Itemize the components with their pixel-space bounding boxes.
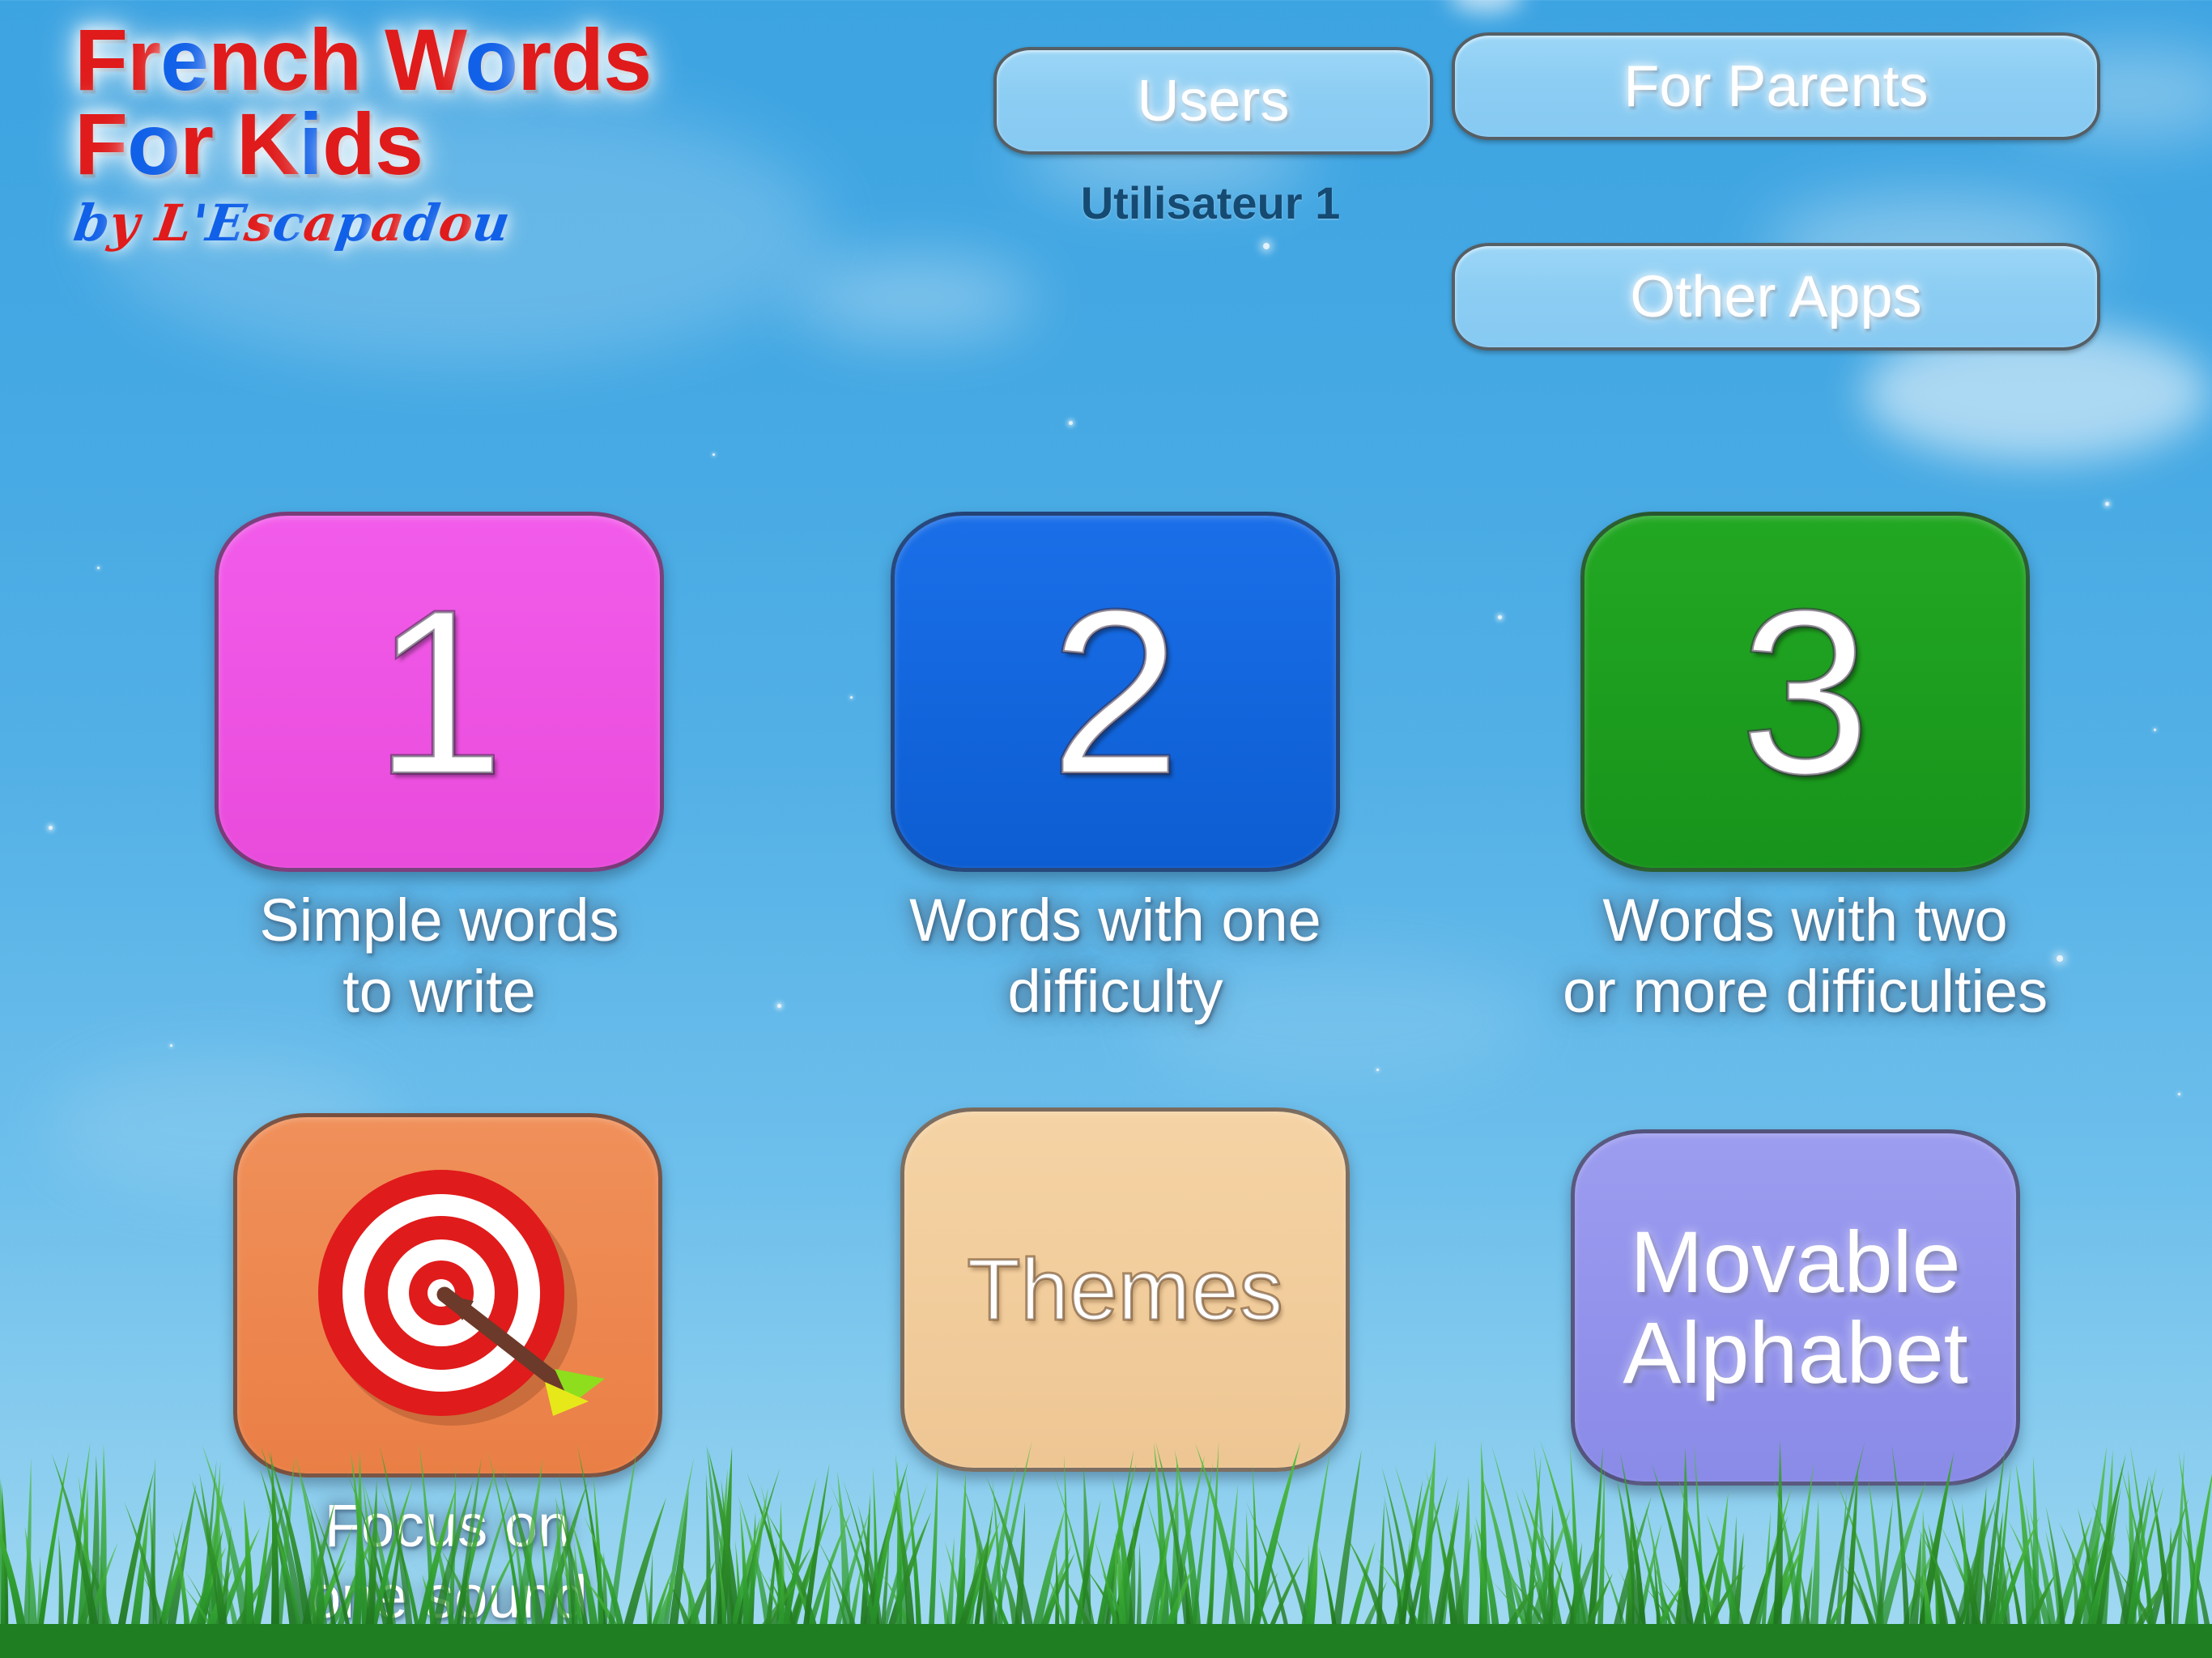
tile-level-2-surface[interactable]: 2 (891, 512, 1340, 872)
page-title-line1: French Words (74, 18, 651, 102)
app-title-block: French Words For Kids by L'Escapadou (74, 18, 651, 249)
tile-level-1[interactable]: 1 Simple words to write (215, 512, 664, 1027)
tile-themes[interactable]: Themes (900, 1107, 1350, 1472)
tile-themes-surface[interactable]: Themes (900, 1107, 1350, 1472)
tile-focus-one-sound-caption: Focus on one sound (308, 1490, 588, 1633)
tile-level-3[interactable]: 3 Words with two or more difficulties (1563, 512, 2048, 1027)
tile-movable-alphabet-label: Movable Alphabet (1623, 1217, 1967, 1398)
current-user-label: Utilisateur 1 (1008, 176, 1413, 229)
tile-level-1-surface[interactable]: 1 (215, 512, 664, 872)
tile-level-1-caption: Simple words to write (259, 885, 619, 1027)
tile-movable-alphabet-surface[interactable]: Movable Alphabet (1571, 1129, 2020, 1486)
tile-level-2-caption: Words with one difficulty (909, 885, 1321, 1027)
for-parents-button[interactable]: For Parents (1452, 32, 2100, 140)
users-button[interactable]: Users (993, 47, 1433, 155)
other-apps-button[interactable]: Other Apps (1452, 243, 2100, 351)
target-with-arrow-icon (286, 1162, 610, 1429)
tile-level-2[interactable]: 2 Words with one difficulty (891, 512, 1340, 1027)
tile-level-2-number: 2 (1050, 575, 1180, 810)
tile-focus-one-sound[interactable]: Focus on one sound (233, 1113, 662, 1633)
developer-byline: by L'Escapadou (71, 198, 655, 249)
tile-level-3-number: 3 (1740, 575, 1870, 810)
tile-level-3-caption: Words with two or more difficulties (1563, 885, 2048, 1027)
tile-themes-label: Themes (967, 1244, 1283, 1335)
cloud-wisp (793, 259, 1036, 336)
page-title-line2: For Kids (74, 102, 651, 186)
tile-movable-alphabet[interactable]: Movable Alphabet (1571, 1129, 2020, 1486)
tile-focus-one-sound-surface[interactable] (233, 1113, 662, 1477)
cloud-wisp (1449, 0, 1522, 13)
tile-level-3-surface[interactable]: 3 (1580, 512, 2030, 872)
tile-level-1-number: 1 (374, 575, 504, 810)
